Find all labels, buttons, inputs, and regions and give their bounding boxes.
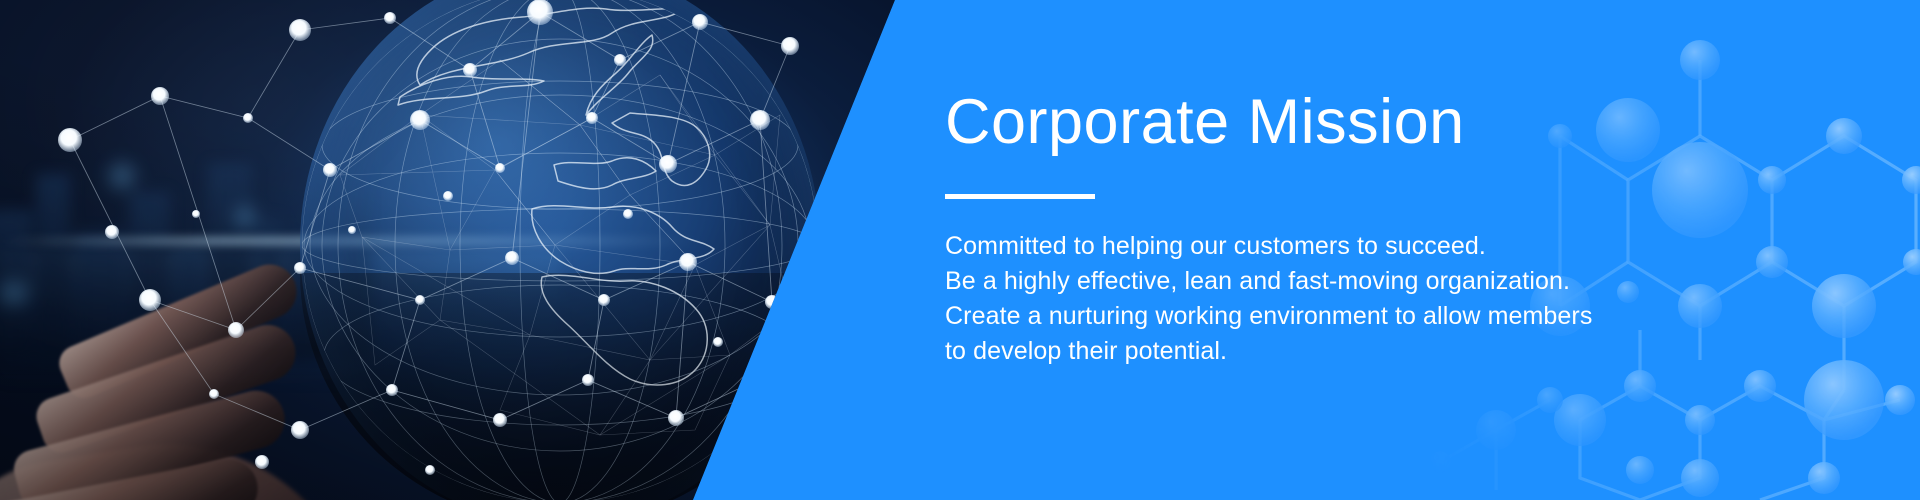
title-divider <box>945 194 1095 199</box>
mission-line: Be a highly effective, lean and fast-mov… <box>945 264 1705 299</box>
corporate-mission-banner: Corporate Mission Committed to helping o… <box>0 0 1920 500</box>
mission-line: to develop their potential. <box>945 334 1705 369</box>
mission-line: Committed to helping our customers to su… <box>945 229 1705 264</box>
mission-line: Create a nurturing working environment t… <box>945 299 1705 334</box>
page-title: Corporate Mission <box>945 88 1705 156</box>
mission-text-block: Corporate Mission Committed to helping o… <box>945 88 1705 369</box>
mission-statement-list: Committed to helping our customers to su… <box>945 229 1705 369</box>
